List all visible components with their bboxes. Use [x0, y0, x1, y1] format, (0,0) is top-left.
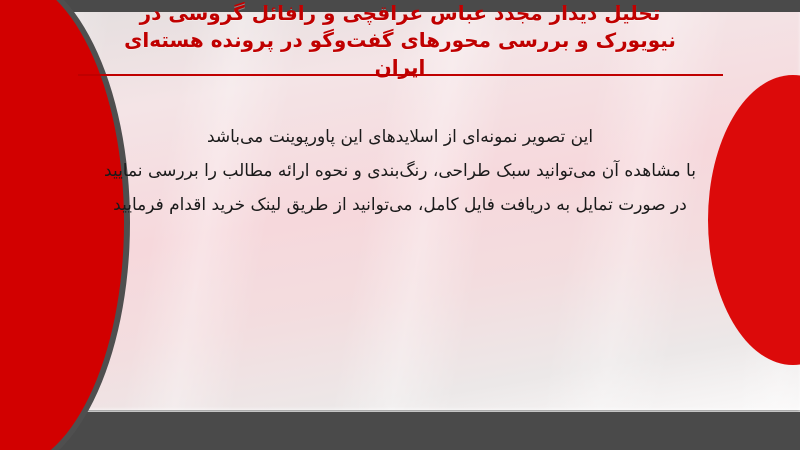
slide-body-line-1: این تصویر نمونه‌ای از اسلایدهای این پاور…: [0, 120, 800, 154]
slide-frame-bottom-bar: [0, 410, 800, 450]
slide-body-line-2: با مشاهده آن می‌توانید سبک طراحی، رنگ‌بن…: [0, 154, 800, 188]
slide-title-line-1: تحلیل دیدار مجدد عباس عراقچی و رافائل گر…: [0, 0, 800, 27]
slide-title-line-3: ایران: [0, 54, 800, 81]
presentation-slide: تحلیل دیدار مجدد عباس عراقچی و رافائل گر…: [0, 0, 800, 450]
slide-body: این تصویر نمونه‌ای از اسلایدهای این پاور…: [0, 120, 800, 222]
slide-content: تحلیل دیدار مجدد عباس عراقچی و رافائل گر…: [0, 12, 800, 412]
title-divider-rule: [78, 74, 723, 76]
slide-body-line-3: در صورت تمایل به دریافت فایل کامل، می‌تو…: [0, 188, 800, 222]
slide-title: تحلیل دیدار مجدد عباس عراقچی و رافائل گر…: [0, 0, 800, 81]
slide-title-line-2: نیویورک و بررسی محورهای گفت‌وگو در پروند…: [0, 27, 800, 54]
